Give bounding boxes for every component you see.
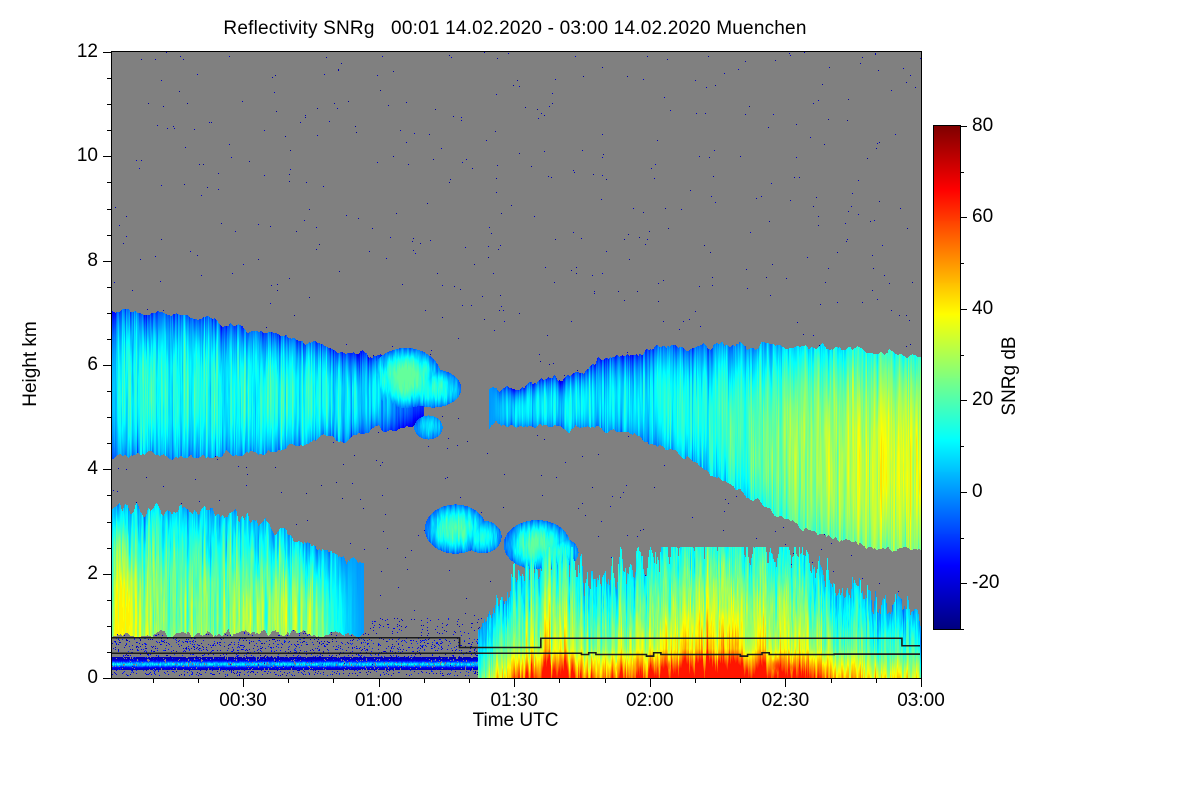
y-tick-minor — [107, 339, 112, 340]
colorbar-tick-minor — [960, 629, 964, 630]
x-tick-label: 01:00 — [355, 690, 403, 712]
colorbar-tick-label: 0 — [972, 481, 983, 503]
colorbar-tick-label: 20 — [972, 389, 993, 411]
x-tick-minor — [740, 678, 741, 683]
x-tick-minor — [695, 678, 696, 683]
x-tick-label: 01:30 — [490, 690, 538, 712]
radar-reflectivity-figure: Reflectivity SNRg 00:01 14.02.2020 - 03:… — [0, 0, 1200, 800]
x-tick-label: 02:00 — [626, 690, 674, 712]
x-tick-minor — [153, 678, 154, 683]
y-tick-minor — [107, 600, 112, 601]
x-tick-major — [650, 678, 651, 687]
y-tick-label: 6 — [87, 354, 98, 376]
colorbar-tick-minor — [960, 446, 964, 447]
y-tick-minor — [107, 287, 112, 288]
x-tick-label: 02:30 — [762, 690, 810, 712]
colorbar-tick-major — [960, 126, 967, 127]
colorbar-tick-label: 80 — [972, 115, 993, 137]
x-tick-minor — [559, 678, 560, 683]
y-tick-major — [103, 365, 112, 366]
y-tick-major — [103, 574, 112, 575]
y-tick-major — [103, 156, 112, 157]
page-title: Reflectivity SNRg 00:01 14.02.2020 - 03:… — [0, 18, 1030, 40]
y-tick-minor — [107, 209, 112, 210]
colorbar-tick-minor — [960, 538, 964, 539]
colorbar[interactable]: -20020406080 — [933, 125, 961, 630]
y-tick-minor — [107, 417, 112, 418]
y-tick-label: 4 — [87, 458, 98, 480]
colorbar-tick-major — [960, 583, 967, 584]
x-tick-major — [921, 678, 922, 687]
colorbar-tick-major — [960, 309, 967, 310]
x-axis-title: Time UTC — [111, 710, 920, 732]
y-tick-major — [103, 678, 112, 679]
x-tick-minor — [288, 678, 289, 683]
y-tick-minor — [107, 313, 112, 314]
x-tick-minor — [469, 678, 470, 683]
colorbar-tick-label: -20 — [972, 572, 999, 594]
y-tick-minor — [107, 495, 112, 496]
y-tick-minor — [107, 391, 112, 392]
y-tick-label: 12 — [77, 41, 98, 63]
y-tick-minor — [107, 522, 112, 523]
y-tick-minor — [107, 652, 112, 653]
y-tick-minor — [107, 182, 112, 183]
x-tick-major — [379, 678, 380, 687]
y-tick-minor — [107, 443, 112, 444]
x-tick-major — [785, 678, 786, 687]
x-tick-label: 00:30 — [219, 690, 267, 712]
x-tick-major — [243, 678, 244, 687]
y-tick-minor — [107, 548, 112, 549]
plot-area[interactable]: 024681012 00:3001:0001:3002:0002:3003:00 — [111, 51, 922, 679]
x-tick-minor — [876, 678, 877, 683]
colorbar-tick-major — [960, 400, 967, 401]
y-tick-minor — [107, 626, 112, 627]
colorbar-tick-minor — [960, 355, 964, 356]
x-tick-minor — [831, 678, 832, 683]
x-tick-major — [514, 678, 515, 687]
y-tick-minor — [107, 235, 112, 236]
colorbar-title: SNRg dB — [999, 336, 1021, 415]
y-tick-minor — [107, 78, 112, 79]
x-tick-minor — [198, 678, 199, 683]
y-tick-major — [103, 52, 112, 53]
y-tick-major — [103, 469, 112, 470]
colorbar-tick-minor — [960, 263, 964, 264]
colorbar-tick-major — [960, 217, 967, 218]
y-tick-label: 8 — [87, 250, 98, 272]
colorbar-tick-label: 40 — [972, 298, 993, 320]
colorbar-tick-label: 60 — [972, 206, 993, 228]
y-tick-major — [103, 261, 112, 262]
x-tick-minor — [605, 678, 606, 683]
x-tick-label: 03:00 — [897, 690, 945, 712]
y-tick-minor — [107, 104, 112, 105]
x-tick-minor — [424, 678, 425, 683]
colorbar-gradient — [934, 126, 960, 629]
reflectivity-heatmap-canvas[interactable] — [112, 52, 921, 678]
y-tick-label: 2 — [87, 563, 98, 585]
colorbar-tick-minor — [960, 172, 964, 173]
y-tick-minor — [107, 130, 112, 131]
y-tick-label: 10 — [77, 145, 98, 167]
y-axis-title: Height km — [20, 321, 42, 407]
colorbar-tick-major — [960, 492, 967, 493]
x-tick-minor — [333, 678, 334, 683]
y-tick-label: 0 — [87, 667, 98, 689]
